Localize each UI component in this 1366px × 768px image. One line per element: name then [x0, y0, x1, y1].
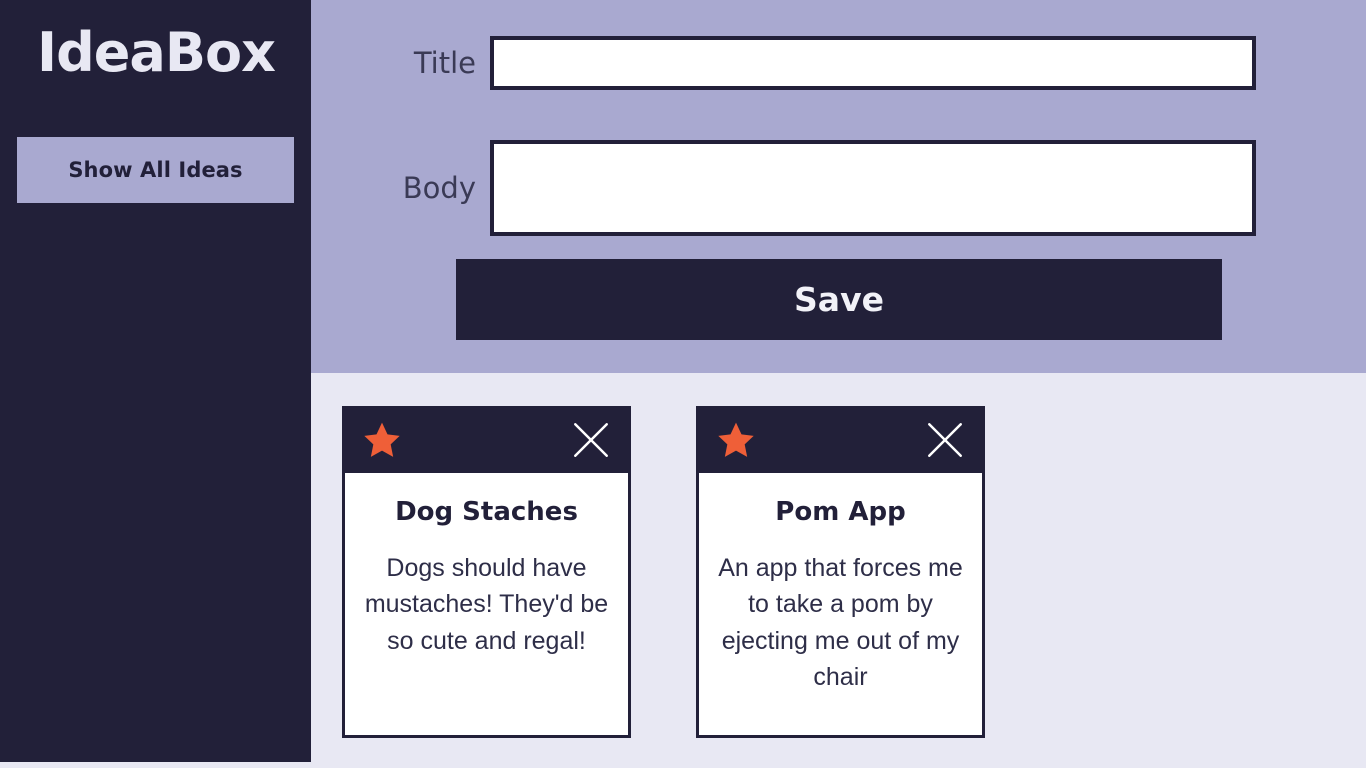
ideas-list: Dog Staches Dogs should have mustaches! …	[311, 373, 1366, 768]
close-icon[interactable]	[924, 419, 966, 461]
idea-card-header	[342, 406, 631, 473]
idea-card-text: An app that forces me to take a pom by e…	[713, 550, 968, 695]
idea-card-body: Pom App An app that forces me to take a …	[696, 473, 985, 738]
star-icon[interactable]	[715, 420, 757, 460]
body-field-row: Body	[345, 140, 1256, 236]
save-button[interactable]: Save	[456, 259, 1222, 340]
idea-card-title: Dog Staches	[359, 497, 614, 528]
body-label: Body	[345, 171, 490, 205]
title-input[interactable]	[490, 36, 1256, 90]
idea-card-title: Pom App	[713, 497, 968, 528]
star-icon[interactable]	[361, 420, 403, 460]
close-icon[interactable]	[570, 419, 612, 461]
idea-form-panel: Title Body Save	[311, 0, 1366, 373]
idea-card-text: Dogs should have mustaches! They'd be so…	[359, 550, 614, 659]
idea-card-header	[696, 406, 985, 473]
title-field-row: Title	[345, 36, 1256, 90]
idea-card: Dog Staches Dogs should have mustaches! …	[342, 406, 631, 738]
sidebar: IdeaBox Show All Ideas	[0, 0, 311, 762]
app-brand-title: IdeaBox	[18, 26, 294, 80]
sidebar-bottom-strip	[0, 762, 311, 768]
show-all-ideas-button[interactable]: Show All Ideas	[17, 137, 294, 203]
idea-card: Pom App An app that forces me to take a …	[696, 406, 985, 738]
idea-card-body: Dog Staches Dogs should have mustaches! …	[342, 473, 631, 738]
ideabox-app: IdeaBox Show All Ideas Title Body Save	[0, 0, 1366, 768]
body-input[interactable]	[490, 140, 1256, 236]
title-label: Title	[345, 46, 490, 80]
